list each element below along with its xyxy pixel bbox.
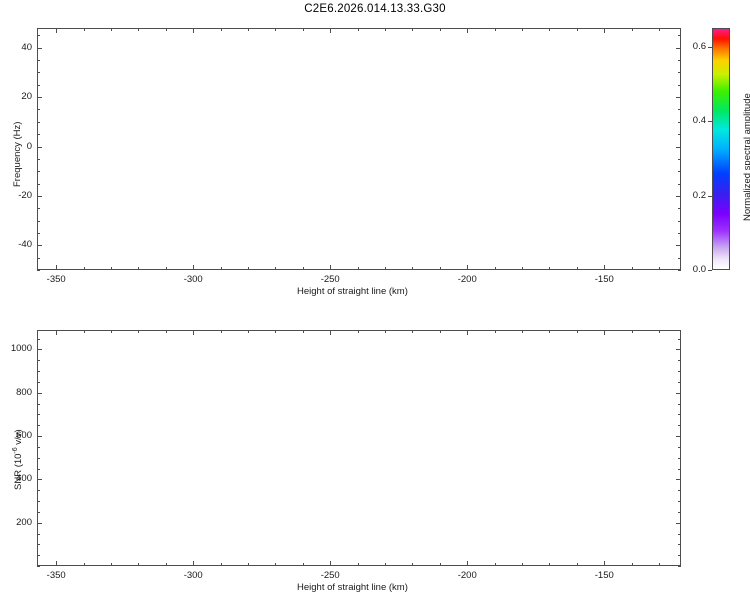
snr-ylabel-prefix: SNR (10 <box>13 454 24 490</box>
spectrogram-y-minor-tick-right <box>678 85 681 86</box>
snr-y-tick-label: 400 <box>0 473 32 484</box>
snr-x-minor-tick <box>577 563 578 566</box>
spectrogram-x-minor-tick-top <box>303 28 304 31</box>
spectrogram-y-minor-tick-right <box>678 233 681 234</box>
spectrogram-x-minor-tick-top <box>138 28 139 31</box>
colorbar-tick <box>708 196 712 197</box>
spectrogram-x-minor-tick-top <box>522 28 523 31</box>
snr-x-tick-top <box>330 330 331 335</box>
spectrogram-x-minor-tick-top <box>275 28 276 31</box>
spectrogram-y-minor-tick <box>37 258 40 259</box>
snr-x-minor-tick <box>358 563 359 566</box>
spectrogram-x-minor-tick-top <box>577 28 578 31</box>
spectrogram-y-minor-tick-right <box>678 258 681 259</box>
spectrogram-y-minor-tick <box>37 208 40 209</box>
spectrogram-y-minor-tick <box>37 134 40 135</box>
snr-x-minor-tick-top <box>248 330 249 333</box>
snr-x-minor-tick-top <box>522 330 523 333</box>
spectrogram-y-minor-tick-right <box>678 221 681 222</box>
spectrogram-x-tick-label: -350 <box>36 274 76 285</box>
spectrogram-x-minor-tick <box>303 267 304 270</box>
spectrogram-y-tick-right <box>676 147 681 148</box>
spectrogram-x-tick-top <box>604 28 605 33</box>
spectrogram-y-minor-tick-right <box>678 134 681 135</box>
snr-x-axis-label: Height of straight line (km) <box>297 582 408 593</box>
spectrogram-x-tick <box>467 265 468 270</box>
snr-ylabel-exponent: -6 <box>12 447 19 453</box>
snr-x-minor-tick <box>221 563 222 566</box>
snr-x-tick <box>56 561 57 566</box>
spectrogram-x-minor-tick-top <box>549 28 550 31</box>
snr-y-minor-tick <box>37 371 40 372</box>
snr-x-tick-label: -350 <box>36 570 76 581</box>
spectrogram-x-tick <box>330 265 331 270</box>
snr-y-tick <box>37 479 42 480</box>
snr-y-minor-tick <box>37 469 40 470</box>
snr-y-minor-tick <box>37 339 40 340</box>
spectrogram-x-minor-tick-top <box>111 28 112 31</box>
colorbar-tick-label: 0.2 <box>666 190 706 201</box>
snr-y-minor-tick <box>37 544 40 545</box>
spectrogram-x-tick-top <box>330 28 331 33</box>
snr-x-minor-tick-top <box>440 330 441 333</box>
colorbar-tick <box>708 270 712 271</box>
snr-x-minor-tick-top <box>275 330 276 333</box>
snr-y-tick-right <box>676 436 681 437</box>
snr-y-minor-tick <box>37 382 40 383</box>
spectrogram-x-minor-tick-top <box>221 28 222 31</box>
spectrogram-y-tick-label: 0 <box>0 141 32 152</box>
snr-y-minor-tick <box>37 534 40 535</box>
spectrogram-y-minor-tick-right <box>678 184 681 185</box>
snr-y-minor-tick <box>37 512 40 513</box>
snr-y-minor-tick-right <box>678 458 681 459</box>
spectrogram-y-tick-label: 20 <box>0 91 32 102</box>
spectrogram-y-minor-tick <box>37 109 40 110</box>
spectrogram-x-minor-tick <box>522 267 523 270</box>
colorbar <box>712 28 730 270</box>
spectrogram-x-minor-tick <box>495 267 496 270</box>
snr-y-minor-tick <box>37 360 40 361</box>
spectrogram-y-tick-right <box>676 245 681 246</box>
snr-panel <box>37 330 681 566</box>
spectrogram-x-minor-tick <box>412 267 413 270</box>
spectrogram-y-minor-tick <box>37 221 40 222</box>
snr-y-minor-tick <box>37 566 40 567</box>
snr-y-minor-tick <box>37 458 40 459</box>
snr-x-minor-tick <box>440 563 441 566</box>
snr-x-tick-label: -250 <box>310 570 350 581</box>
snr-x-minor-tick <box>248 563 249 566</box>
spectrogram-x-minor-tick <box>358 267 359 270</box>
snr-x-minor-tick <box>385 563 386 566</box>
spectrogram-x-minor-tick-top <box>440 28 441 31</box>
snr-x-tick-label: -200 <box>447 570 487 581</box>
colorbar-tick <box>708 121 712 122</box>
figure-root: C2E6.2026.014.13.33.G30 Frequency (Hz) H… <box>0 0 750 600</box>
spectrogram-x-tick-label: -200 <box>447 274 487 285</box>
spectrogram-y-axis-label: Frequency (Hz) <box>12 122 23 187</box>
spectrogram-y-minor-tick-right <box>678 109 681 110</box>
snr-x-minor-tick <box>412 563 413 566</box>
spectrogram-y-minor-tick <box>37 171 40 172</box>
spectrogram-y-tick <box>37 48 42 49</box>
spectrogram-x-minor-tick <box>138 267 139 270</box>
spectrogram-x-minor-tick <box>84 267 85 270</box>
spectrogram-x-minor-tick <box>440 267 441 270</box>
snr-x-minor-tick <box>549 563 550 566</box>
snr-x-minor-tick <box>275 563 276 566</box>
snr-x-minor-tick <box>522 563 523 566</box>
snr-y-minor-tick-right <box>678 544 681 545</box>
snr-y-tick <box>37 393 42 394</box>
snr-y-minor-tick-right <box>678 555 681 556</box>
snr-y-tick-right <box>676 523 681 524</box>
snr-x-tick <box>330 561 331 566</box>
snr-y-tick <box>37 349 42 350</box>
snr-x-minor-tick-top <box>659 330 660 333</box>
spectrogram-y-minor-tick-right <box>678 208 681 209</box>
snr-x-minor-tick-top <box>221 330 222 333</box>
snr-frame <box>37 330 681 566</box>
snr-x-tick-top <box>193 330 194 335</box>
spectrogram-x-minor-tick-top <box>248 28 249 31</box>
colorbar-tick <box>708 47 712 48</box>
snr-y-minor-tick-right <box>678 447 681 448</box>
spectrogram-y-minor-tick <box>37 35 40 36</box>
spectrogram-x-tick-label: -150 <box>584 274 624 285</box>
snr-x-tick-top <box>56 330 57 335</box>
snr-x-tick <box>193 561 194 566</box>
snr-y-minor-tick-right <box>678 339 681 340</box>
spectrogram-x-tick-top <box>193 28 194 33</box>
spectrogram-x-minor-tick <box>275 267 276 270</box>
spectrogram-y-minor-tick-right <box>678 60 681 61</box>
spectrogram-frame <box>37 28 681 270</box>
snr-x-minor-tick-top <box>495 330 496 333</box>
snr-x-minor-tick-top <box>303 330 304 333</box>
snr-y-tick-label: 200 <box>0 517 32 528</box>
snr-y-minor-tick-right <box>678 566 681 567</box>
spectrogram-y-minor-tick <box>37 233 40 234</box>
snr-x-minor-tick <box>84 563 85 566</box>
spectrogram-x-minor-tick-top <box>358 28 359 31</box>
spectrogram-y-tick <box>37 245 42 246</box>
snr-x-tick <box>604 561 605 566</box>
spectrogram-x-minor-tick <box>111 267 112 270</box>
snr-x-minor-tick-top <box>166 330 167 333</box>
spectrogram-x-minor-tick <box>221 267 222 270</box>
snr-y-tick-right <box>676 393 681 394</box>
spectrogram-y-minor-tick <box>37 270 40 271</box>
colorbar-gradient <box>713 29 729 269</box>
spectrogram-y-minor-tick <box>37 184 40 185</box>
spectrogram-x-minor-tick-top <box>632 28 633 31</box>
snr-x-tick-top <box>604 330 605 335</box>
spectrogram-y-tick-label: 40 <box>0 42 32 53</box>
snr-y-tick <box>37 523 42 524</box>
spectrogram-y-minor-tick <box>37 60 40 61</box>
spectrogram-x-tick <box>56 265 57 270</box>
snr-x-minor-tick <box>303 563 304 566</box>
spectrogram-x-minor-tick <box>577 267 578 270</box>
snr-x-minor-tick <box>659 563 660 566</box>
snr-y-tick-right <box>676 349 681 350</box>
snr-y-minor-tick-right <box>678 490 681 491</box>
spectrogram-x-minor-tick <box>248 267 249 270</box>
snr-y-minor-tick <box>37 447 40 448</box>
snr-y-minor-tick <box>37 404 40 405</box>
snr-y-minor-tick <box>37 490 40 491</box>
snr-x-minor-tick <box>111 563 112 566</box>
spectrogram-x-minor-tick-top <box>385 28 386 31</box>
snr-x-minor-tick-top <box>111 330 112 333</box>
snr-y-minor-tick-right <box>678 360 681 361</box>
snr-x-minor-tick-top <box>577 330 578 333</box>
spectrogram-x-minor-tick-top <box>412 28 413 31</box>
spectrogram-x-minor-tick <box>166 267 167 270</box>
colorbar-label: Normalized spectral amplitude <box>742 93 750 221</box>
snr-y-tick-label: 600 <box>0 430 32 441</box>
snr-x-minor-tick <box>138 563 139 566</box>
snr-y-minor-tick <box>37 555 40 556</box>
spectrogram-y-minor-tick <box>37 122 40 123</box>
spectrogram-y-tick-label: -20 <box>0 190 32 201</box>
snr-x-minor-tick-top <box>549 330 550 333</box>
spectrogram-x-minor-tick-top <box>495 28 496 31</box>
spectrogram-x-minor-tick <box>549 267 550 270</box>
colorbar-tick-label: 0.6 <box>666 41 706 52</box>
snr-y-tick-label: 1000 <box>0 343 32 354</box>
spectrogram-x-minor-tick <box>385 267 386 270</box>
snr-x-minor-tick <box>495 563 496 566</box>
snr-y-minor-tick <box>37 414 40 415</box>
spectrogram-y-minor-tick <box>37 85 40 86</box>
spectrogram-y-tick <box>37 147 42 148</box>
spectrogram-y-tick <box>37 97 42 98</box>
colorbar-tick-label: 0.0 <box>666 264 706 275</box>
spectrogram-x-tick-top <box>467 28 468 33</box>
snr-y-minor-tick-right <box>678 469 681 470</box>
snr-x-minor-tick <box>166 563 167 566</box>
snr-y-minor-tick-right <box>678 414 681 415</box>
snr-x-minor-tick <box>632 563 633 566</box>
spectrogram-y-minor-tick-right <box>678 35 681 36</box>
spectrogram-y-minor-tick <box>37 159 40 160</box>
spectrogram-x-tick-label: -250 <box>310 274 350 285</box>
snr-y-minor-tick-right <box>678 425 681 426</box>
snr-y-minor-tick <box>37 425 40 426</box>
spectrogram-x-minor-tick <box>632 267 633 270</box>
snr-y-minor-tick-right <box>678 512 681 513</box>
snr-x-tick-label: -150 <box>584 570 624 581</box>
spectrogram-x-minor-tick <box>659 267 660 270</box>
spectrogram-y-tick-right <box>676 97 681 98</box>
snr-x-tick-label: -300 <box>173 570 213 581</box>
spectrogram-y-tick-label: -40 <box>0 239 32 250</box>
spectrogram-y-tick <box>37 196 42 197</box>
snr-y-minor-tick-right <box>678 534 681 535</box>
snr-x-tick-top <box>467 330 468 335</box>
spectrogram-y-minor-tick <box>37 72 40 73</box>
spectrogram-x-tick-label: -300 <box>173 274 213 285</box>
spectrogram-x-tick-top <box>56 28 57 33</box>
colorbar-tick-label: 0.4 <box>666 115 706 126</box>
snr-x-minor-tick-top <box>84 330 85 333</box>
spectrogram-panel <box>37 28 681 270</box>
spectrogram-x-minor-tick-top <box>659 28 660 31</box>
snr-x-minor-tick-top <box>138 330 139 333</box>
snr-y-minor-tick <box>37 501 40 502</box>
snr-x-minor-tick-top <box>385 330 386 333</box>
snr-y-tick-right <box>676 479 681 480</box>
spectrogram-x-minor-tick-top <box>166 28 167 31</box>
spectrogram-x-tick <box>193 265 194 270</box>
spectrogram-x-axis-label: Height of straight line (km) <box>297 286 408 297</box>
snr-x-tick <box>467 561 468 566</box>
snr-y-tick-label: 800 <box>0 387 32 398</box>
snr-y-minor-tick-right <box>678 404 681 405</box>
spectrogram-x-minor-tick-top <box>84 28 85 31</box>
spectrogram-y-minor-tick-right <box>678 72 681 73</box>
spectrogram-x-tick <box>604 265 605 270</box>
snr-x-minor-tick-top <box>358 330 359 333</box>
snr-y-minor-tick-right <box>678 371 681 372</box>
spectrogram-y-minor-tick-right <box>678 171 681 172</box>
snr-y-tick <box>37 436 42 437</box>
snr-x-minor-tick-top <box>632 330 633 333</box>
snr-y-minor-tick-right <box>678 501 681 502</box>
spectrogram-y-minor-tick-right <box>678 159 681 160</box>
snr-y-minor-tick-right <box>678 382 681 383</box>
figure-title: C2E6.2026.014.13.33.G30 <box>0 3 750 15</box>
snr-x-minor-tick-top <box>412 330 413 333</box>
